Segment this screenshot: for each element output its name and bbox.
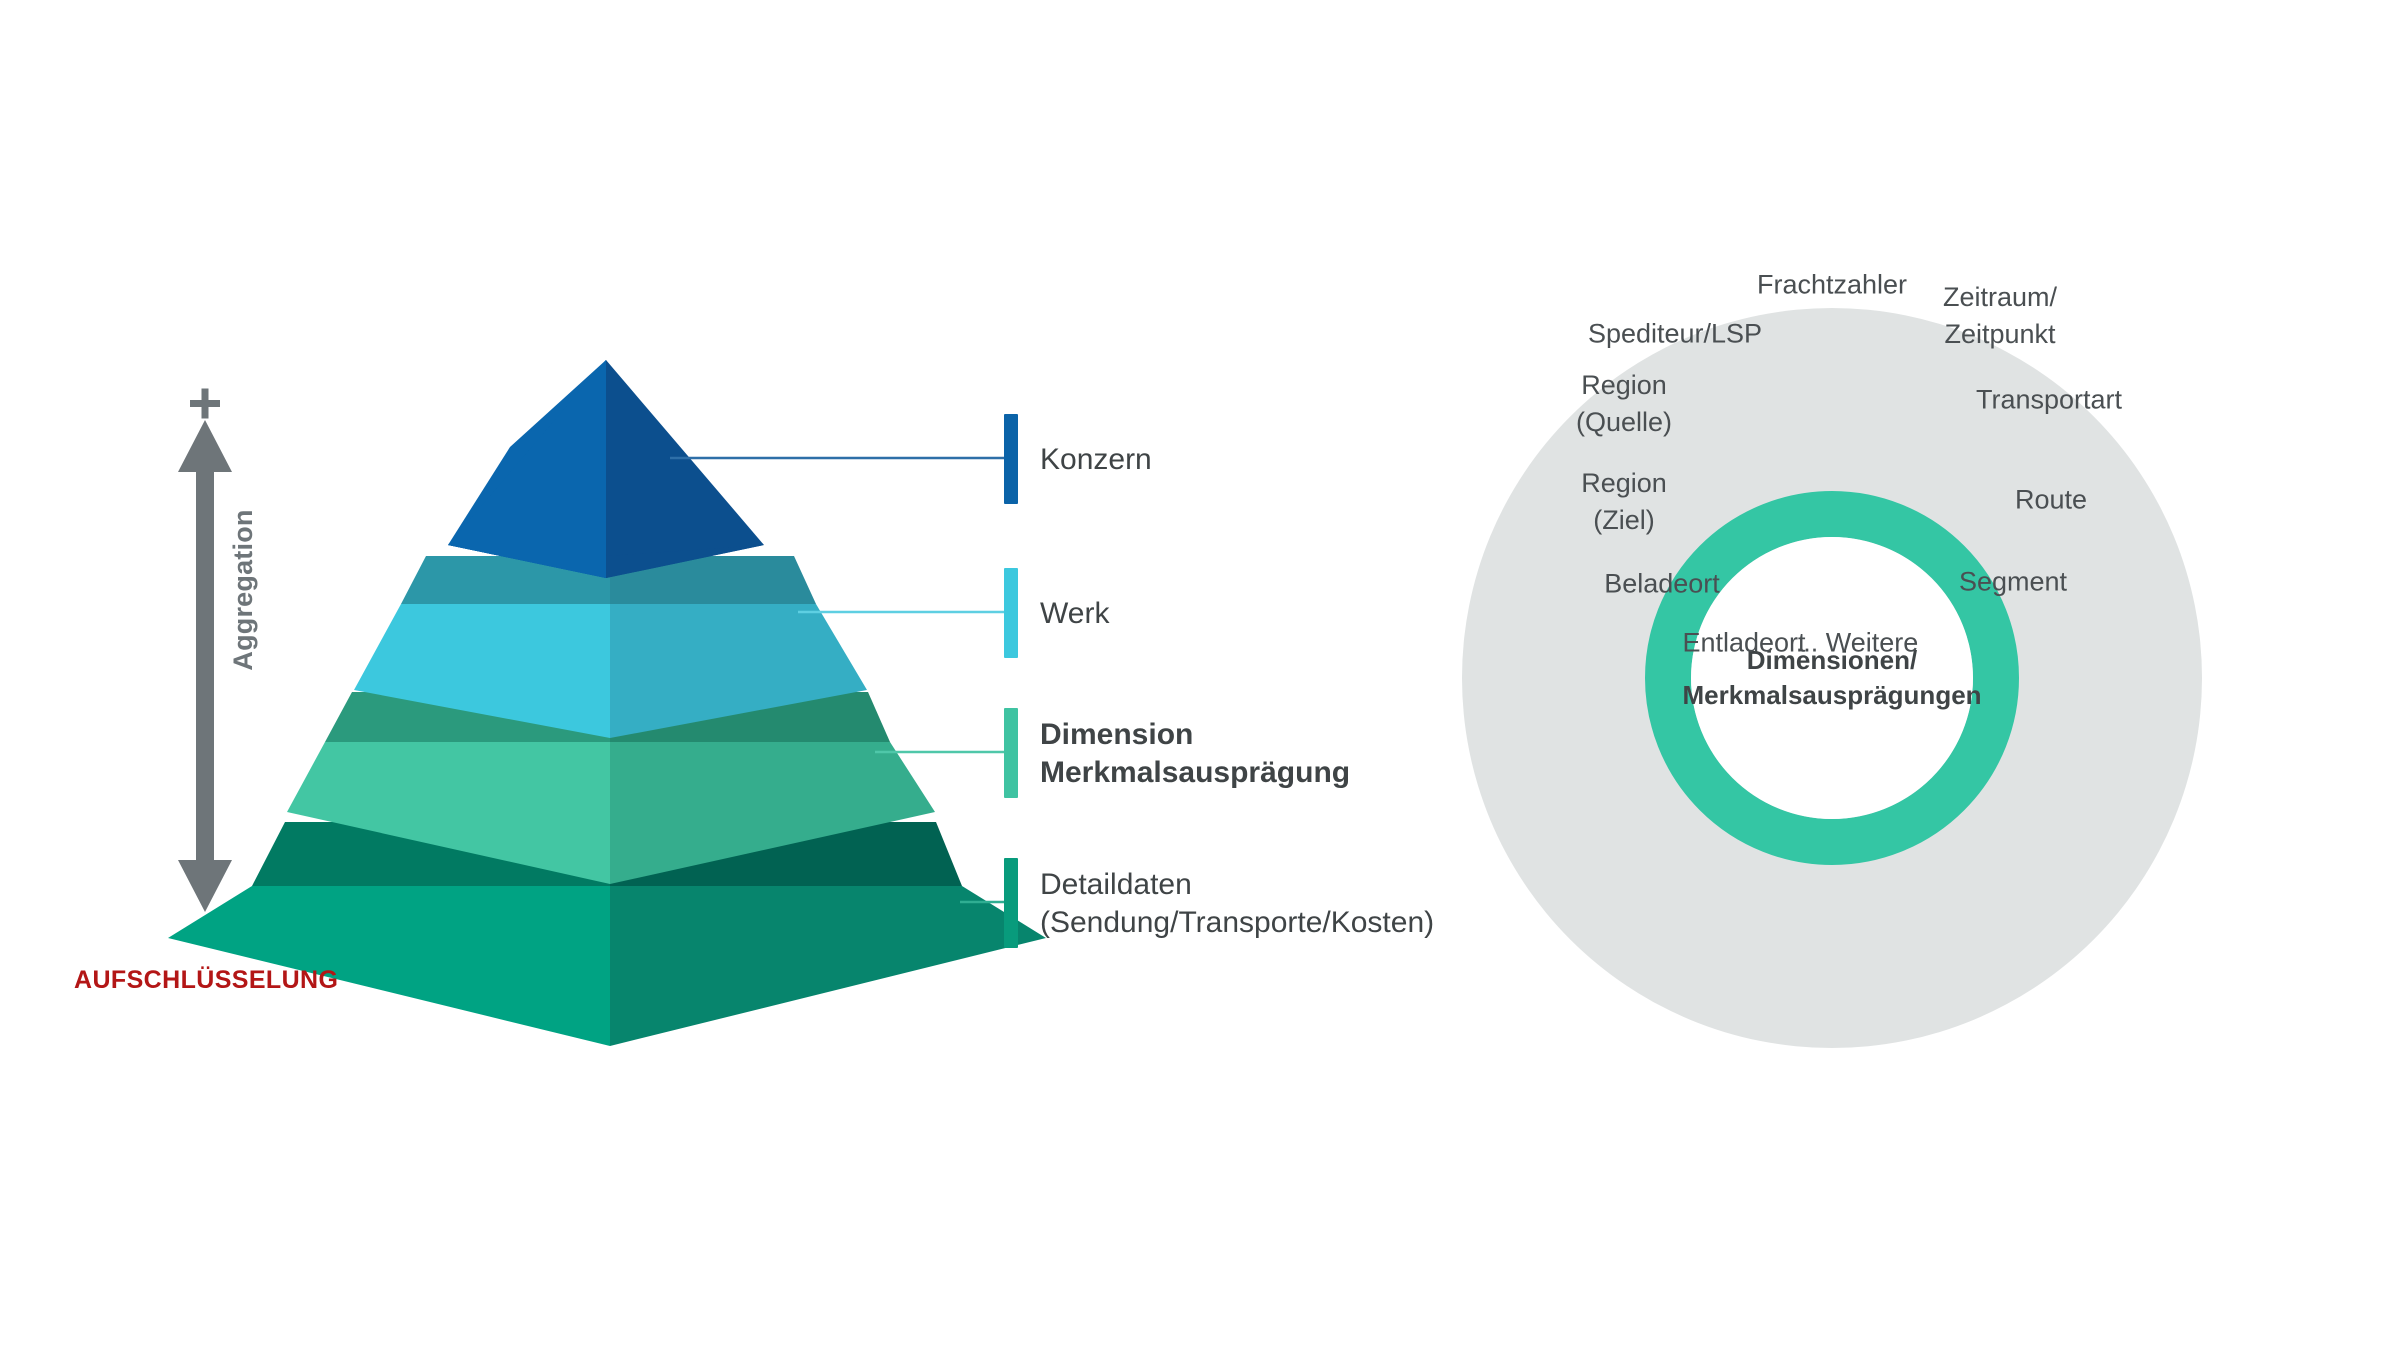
- tier-marker-detaildaten[interactable]: [1004, 858, 1018, 948]
- aufschluesselung-label: AUFSCHLÜSSELUNG: [74, 966, 338, 995]
- tier-marker-dimension[interactable]: [1004, 708, 1018, 798]
- ring-label-frachtzahler-line-1: Frachtzahler: [1757, 267, 1907, 304]
- tier-label-konzern[interactable]: Konzern: [1040, 441, 1152, 479]
- pyramid-apex-clean: [448, 360, 764, 578]
- ring-label-beladeort-line-1: Beladeort: [1604, 566, 1720, 603]
- ring-label-transportart-line-1: Transportart: [1976, 382, 2122, 419]
- ring-label-weitere[interactable]: ... Weitere: [1796, 625, 1919, 662]
- pyramid-graphic: [0, 0, 1440, 1350]
- ring-label-spediteur-lsp-line-1: Spediteur/LSP: [1588, 316, 1762, 353]
- ring-label-transportart[interactable]: Transportart: [1976, 382, 2122, 419]
- tier-label-dimension[interactable]: Dimension Merkmalsausprägung: [1040, 716, 1350, 792]
- tier-label-werk[interactable]: Werk: [1040, 595, 1109, 633]
- tier-label-dimension-line-2: Merkmalsausprägung: [1040, 754, 1350, 792]
- ring-label-region-quelle-line-1: Region: [1576, 367, 1672, 404]
- ring-label-region-ziel-line-1: Region: [1581, 465, 1667, 502]
- tier-marker-werk[interactable]: [1004, 568, 1018, 658]
- ring-label-beladeort[interactable]: Beladeort: [1604, 566, 1720, 603]
- ring-label-spediteur-lsp[interactable]: Spediteur/LSP: [1588, 316, 1762, 353]
- tier-label-konzern-line-1: Konzern: [1040, 441, 1152, 479]
- ring-label-region-quelle-line-2: (Quelle): [1576, 404, 1672, 441]
- ring-label-region-ziel-line-2: (Ziel): [1581, 502, 1667, 539]
- ring-label-segment[interactable]: Segment: [1959, 564, 2067, 601]
- donut-center-line-2: Merkmalsausprägungen: [1682, 678, 1982, 713]
- tier-label-dimension-line-1: Dimension: [1040, 716, 1350, 754]
- ring-label-entladeort-line-1: Entladeort: [1682, 625, 1805, 662]
- aggregation-axis-label: Aggregation: [228, 460, 259, 720]
- ring-label-zeitraum-line-1: Zeitraum/: [1943, 279, 2057, 316]
- ring-label-entladeort[interactable]: Entladeort: [1682, 625, 1805, 662]
- pyramid-panel: Aggregation AUFSCHLÜSSELUNG Konzern Werk…: [0, 0, 1440, 1350]
- tier-label-detaildaten[interactable]: Detaildaten (Sendung/Transporte/Kosten): [1040, 866, 1434, 942]
- aggregation-arrow-icon: [178, 420, 232, 912]
- tier-label-werk-line-1: Werk: [1040, 595, 1109, 633]
- ring-label-zeitraum-zeitpunkt[interactable]: Zeitraum/ Zeitpunkt: [1943, 279, 2057, 353]
- ring-label-route-line-1: Route: [2015, 482, 2087, 519]
- ring-label-region-quelle[interactable]: Region (Quelle): [1576, 367, 1672, 441]
- tier-label-detaildaten-line-1: Detaildaten: [1040, 866, 1434, 904]
- ring-label-region-ziel[interactable]: Region (Ziel): [1581, 465, 1667, 539]
- ring-label-segment-line-1: Segment: [1959, 564, 2067, 601]
- ring-label-weitere-line-1: ... Weitere: [1796, 625, 1919, 662]
- tier-label-detaildaten-line-2: (Sendung/Transporte/Kosten): [1040, 904, 1434, 942]
- tier-marker-konzern[interactable]: [1004, 414, 1018, 504]
- ring-label-frachtzahler[interactable]: Frachtzahler: [1757, 267, 1907, 304]
- plus-symbol-icon: [190, 389, 220, 419]
- dimensions-circle-panel: Dimensionen/ Merkmalsausprägungen Fracht…: [1440, 0, 2400, 1350]
- diagram-canvas: Aggregation AUFSCHLÜSSELUNG Konzern Werk…: [0, 0, 2400, 1350]
- ring-label-zeitraum-line-2: Zeitpunkt: [1943, 316, 2057, 353]
- ring-label-route[interactable]: Route: [2015, 482, 2087, 519]
